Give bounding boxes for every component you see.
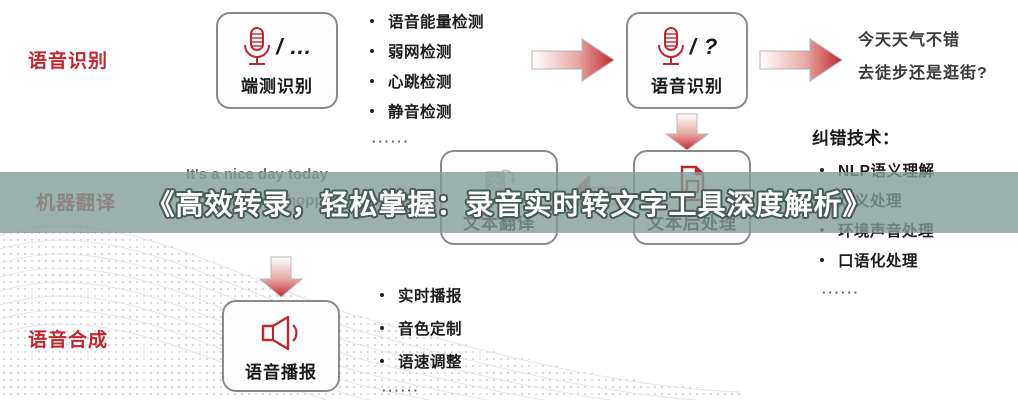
bullet-dot-icon xyxy=(370,19,374,23)
node-asr-icon-group: / ? xyxy=(656,24,719,70)
list-item: 语音能量检测 xyxy=(370,6,484,36)
diagram-canvas: 语音识别 机器翻译 语音合成 / ... 端测识别 xyxy=(0,0,1018,400)
bullet-dot-icon xyxy=(380,359,384,363)
list-item-label: 口语化处理 xyxy=(838,249,918,271)
node-tts-icon-group xyxy=(258,310,304,356)
list-item-label: 音色定制 xyxy=(398,317,462,339)
correction-heading: 纠错技术： xyxy=(812,124,900,149)
speaker-icon xyxy=(258,313,304,353)
list-item: 弱网检测 xyxy=(370,36,484,66)
node-device-label: 端测识别 xyxy=(241,72,313,97)
list-item: 静音检测 xyxy=(370,96,484,126)
list-item-label: 实时播报 xyxy=(398,284,462,306)
section-label-speech-recognition: 语音识别 xyxy=(28,46,108,73)
asr-output-line-2: 去徒步还是逛街? xyxy=(858,59,988,83)
node-asr-suffix: / ? xyxy=(690,34,719,60)
list-item-label: 静音检测 xyxy=(388,100,452,122)
bullet-dot-icon xyxy=(380,293,384,297)
arrow-down-to-broadcast xyxy=(257,255,305,299)
section-label-speech-synthesis: 语音合成 xyxy=(28,325,108,352)
list-item-label: 弱网检测 xyxy=(388,40,452,62)
list-item: 口语化处理 xyxy=(820,245,935,275)
page-title: 《高效转录，轻松掌握：录音实时转文字工具深度解析》 xyxy=(146,183,871,223)
arrow-right-to-output xyxy=(758,36,844,84)
list-ellipsis: ······ xyxy=(372,134,484,149)
overlay-title-band: 《高效转录，轻松掌握：录音实时转文字工具深度解析》 xyxy=(0,172,1018,233)
microphone-icon xyxy=(656,25,686,69)
bullet-dot-icon xyxy=(380,326,384,330)
arrow-right-to-asr xyxy=(530,36,616,84)
bullet-dot-icon xyxy=(370,49,374,53)
microphone-icon xyxy=(242,25,272,69)
bullet-dot-icon xyxy=(370,109,374,113)
asr-output-line-1: 今天天气不错 xyxy=(858,26,988,50)
node-speech-recognition[interactable]: / ? 语音识别 xyxy=(626,12,748,109)
list-item-label: 心跳检测 xyxy=(388,70,452,92)
list-item-label: 语速调整 xyxy=(398,350,462,372)
node-device-recognition[interactable]: / ... 端测识别 xyxy=(216,12,338,109)
node-tts-label: 语音播报 xyxy=(245,358,317,383)
list-ellipsis: ······ xyxy=(382,383,462,398)
asr-output-text: 今天天气不错 去徒步还是逛街? xyxy=(858,26,988,83)
node-asr-label: 语音识别 xyxy=(651,72,723,97)
list-item: 心跳检测 xyxy=(370,66,484,96)
asr-detection-bullet-list: 语音能量检测 弱网检测 心跳检测 静音检测 ······ xyxy=(370,6,484,149)
list-item: 音色定制 xyxy=(380,311,462,344)
node-device-suffix: / ... xyxy=(276,34,312,60)
list-item: 语速调整 xyxy=(380,344,462,377)
node-device-icon-group: / ... xyxy=(242,24,312,70)
list-item-label: 语音能量检测 xyxy=(388,10,484,32)
list-item: 实时播报 xyxy=(380,278,462,311)
node-voice-broadcast[interactable]: 语音播报 xyxy=(222,300,340,392)
bullet-dot-icon xyxy=(820,258,824,262)
arrow-down-to-postprocessing xyxy=(663,112,711,152)
bullet-dot-icon xyxy=(370,79,374,83)
list-ellipsis: ······ xyxy=(822,285,935,300)
tts-feature-bullet-list: 实时播报 音色定制 语速调整 ······ xyxy=(380,278,462,398)
